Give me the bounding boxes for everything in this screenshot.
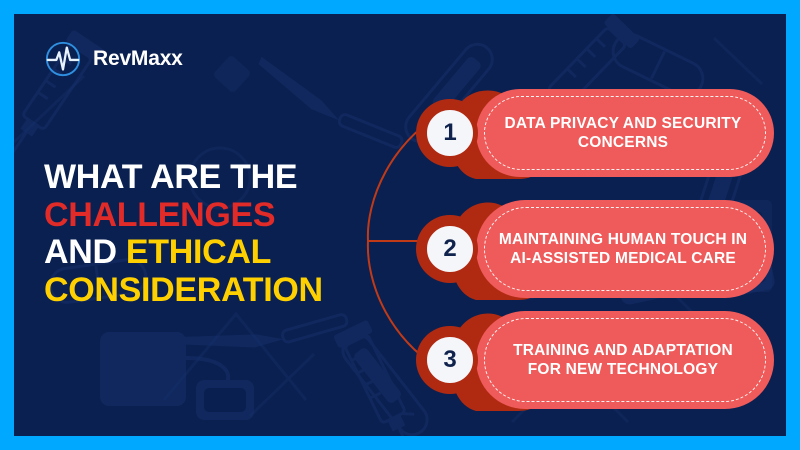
item-text: TRAINING AND ADAPTATION FOR NEW TECHNOLO… — [476, 341, 774, 380]
list-item[interactable]: TRAINING AND ADAPTATION FOR NEW TECHNOLO… — [414, 305, 774, 415]
list-item[interactable]: DATA PRIVACY AND SECURITY CONCERNS 1 — [414, 83, 774, 183]
item-number-badge: 2 — [422, 221, 478, 277]
item-pill: DATA PRIVACY AND SECURITY CONCERNS — [476, 89, 774, 177]
item-pill: TRAINING AND ADAPTATION FOR NEW TECHNOLO… — [476, 311, 774, 409]
item-number-badge: 1 — [422, 105, 478, 161]
item-text: MAINTAINING HUMAN TOUCH IN AI-ASSISTED M… — [476, 230, 774, 269]
item-text: DATA PRIVACY AND SECURITY CONCERNS — [476, 114, 774, 153]
item-pill: MAINTAINING HUMAN TOUCH IN AI-ASSISTED M… — [476, 200, 774, 298]
slide-canvas: RevMaxx WHAT ARE THE CHALLENGES AND ETHI… — [14, 14, 786, 436]
slide-frame: RevMaxx WHAT ARE THE CHALLENGES AND ETHI… — [0, 0, 800, 450]
list-item[interactable]: MAINTAINING HUMAN TOUCH IN AI-ASSISTED M… — [414, 194, 774, 304]
challenge-list: DATA PRIVACY AND SECURITY CONCERNS 1 MAI… — [14, 14, 786, 436]
item-number-badge: 3 — [422, 332, 478, 388]
